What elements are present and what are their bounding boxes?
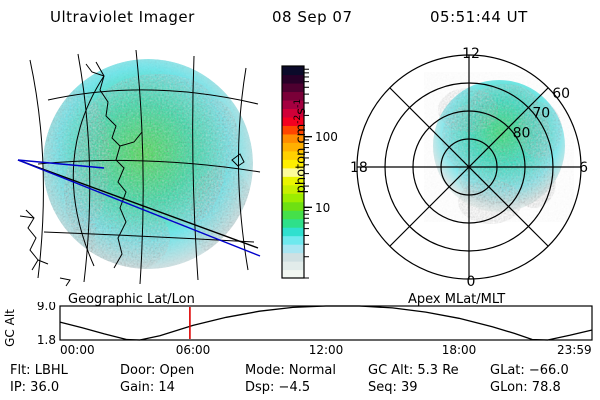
polar-mlt-label: 18 xyxy=(350,160,368,176)
observation-date: 08 Sep 07 xyxy=(272,8,352,26)
strip-x-tick-label: 06:00 xyxy=(176,343,211,357)
strip-x-tick-label: 23:59 xyxy=(557,343,592,357)
status-ip: IP: 36.0 xyxy=(10,380,59,395)
status-door: Door: Open xyxy=(120,363,194,378)
status-flt: Flt: LBHL xyxy=(10,363,68,378)
colorbar-unit-mid: s xyxy=(294,108,309,115)
strip-x-ticks: 00:0006:0012:0018:0023:59 xyxy=(60,343,592,357)
apex-polar-plot[interactable]: 121860 607080 xyxy=(344,42,594,292)
colorbar-band xyxy=(282,270,304,279)
colorbar-band xyxy=(282,244,304,253)
geographic-disk-image[interactable] xyxy=(8,42,270,292)
colorbar-axis-label: photon cm-2s-1 xyxy=(293,61,309,231)
polar-mlat-label: 60 xyxy=(552,86,570,102)
status-glon: GLon: 78.8 xyxy=(490,380,561,395)
status-gain: Gain: 14 xyxy=(120,380,175,395)
strip-y-tick-label: 9.0 xyxy=(37,302,56,313)
colorbar-panel[interactable]: 10010 photon cm-2s-1 xyxy=(276,60,342,290)
polar-mlat-label: 70 xyxy=(532,106,550,122)
strip-x-tick-label: 00:00 xyxy=(60,343,95,357)
status-glat: GLat: −66.0 xyxy=(490,363,569,378)
status-seq: Seq: 39 xyxy=(368,380,418,395)
colorbar-band xyxy=(282,253,304,262)
status-dsp: Dsp: −4.5 xyxy=(245,380,310,395)
polar-mlt-label: 12 xyxy=(462,46,480,62)
strip-y-axis-label: GC Alt xyxy=(3,309,17,347)
status-gcalt: GC Alt: 5.3 Re xyxy=(368,363,459,378)
strip-y-tick-label: 1.8 xyxy=(37,333,56,347)
status-mode: Mode: Normal xyxy=(245,363,336,378)
polar-grid xyxy=(357,55,581,279)
strip-x-tick-label: 12:00 xyxy=(309,343,344,357)
colorbar-unit-main: photon cm xyxy=(294,124,309,194)
polar-mlat-label: 80 xyxy=(513,125,531,141)
polar-mlt-label: 6 xyxy=(579,160,588,176)
colorbar-unit-exp2: -1 xyxy=(293,99,303,108)
strip-frame xyxy=(60,306,592,340)
polar-mlt-label: 0 xyxy=(467,274,476,290)
colorbar-band xyxy=(282,236,304,245)
orbit-altitude-chart[interactable]: GC Alt 9.01.8 00:0006:0012:0018:0023:59 xyxy=(0,302,600,358)
header-bar: Ultraviolet Imager 08 Sep 07 05:51:44 UT xyxy=(0,8,600,32)
geographic-disk-panel[interactable] xyxy=(8,42,270,292)
page-title: Ultraviolet Imager xyxy=(50,8,195,26)
orbit-altitude-strip[interactable]: GC Alt 9.01.8 00:0006:0012:0018:0023:59 xyxy=(0,302,600,358)
observation-time: 05:51:44 UT xyxy=(430,8,528,26)
strip-y-ticks: 9.01.8 xyxy=(37,302,56,347)
colorbar-tick-label: 100 xyxy=(315,130,338,144)
colorbar-unit-exp1: -2 xyxy=(293,115,303,124)
colorbar-tick-label: 10 xyxy=(315,201,330,215)
apex-polar-panel[interactable]: 121860 607080 xyxy=(344,42,594,292)
altitude-curve xyxy=(60,306,592,340)
colorbar-band xyxy=(282,261,304,270)
status-bar: Flt: LBHL Door: Open Mode: Normal GC Alt… xyxy=(0,362,600,400)
strip-x-tick-label: 18:00 xyxy=(442,343,477,357)
